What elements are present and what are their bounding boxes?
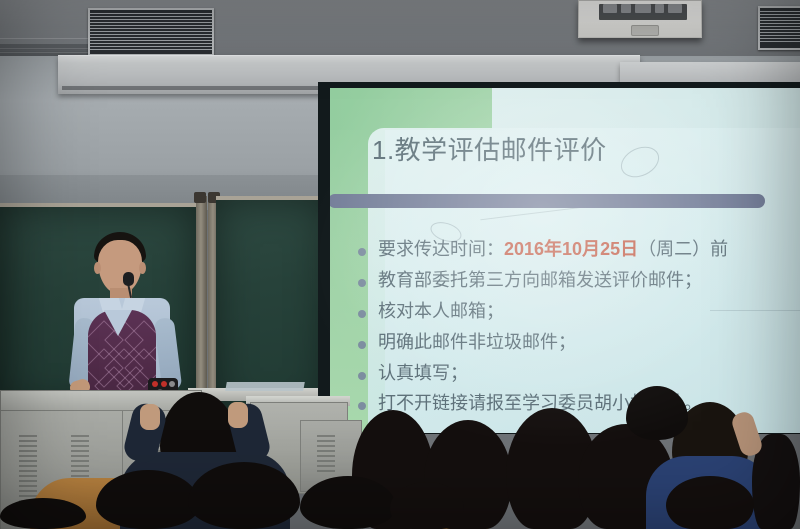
slide-bullet-item: 教育部委托第三方向邮箱发送评价邮件； — [356, 267, 796, 295]
projector-lens-icon — [631, 25, 659, 36]
slide-bullet-item: 认真填写； — [356, 360, 796, 388]
slide-bullet-item: 要求传达时间：2016年10月25日（周二）前 — [356, 236, 796, 264]
air-vent-icon — [88, 8, 214, 56]
bullet-dot-icon — [358, 402, 366, 410]
air-vent-icon — [758, 6, 800, 50]
bullet-text-suffix: （周二）前 — [638, 239, 728, 259]
slide-title: 1.教学评估邮件评价 — [372, 136, 772, 165]
bullet-dot-icon — [358, 279, 366, 287]
audience-head — [666, 476, 754, 529]
presenter-ear — [94, 262, 101, 274]
presenter-vneck — [104, 310, 132, 336]
bullet-dot-icon — [358, 310, 366, 318]
audience-head — [390, 482, 464, 529]
audience-hand — [140, 404, 160, 430]
cabinet-louvers — [317, 435, 335, 475]
presenter-ear — [139, 262, 146, 274]
slide-bullet-list: 要求传达时间：2016年10月25日（周二）前教育部委托第三方向邮箱发送评价邮件… — [356, 236, 796, 421]
bullet-text: 核对本人邮箱； — [378, 301, 504, 321]
slide-title-underline-bar — [330, 194, 765, 208]
slide-bullet-item: 明确此邮件非垃圾邮件； — [356, 329, 796, 357]
paper-on-tray — [225, 382, 305, 391]
classroom-scene: 1.教学评估邮件评价 要求传达时间：2016年10月25日（周二）前教育部委托第… — [0, 0, 800, 529]
chalkboard-rail — [196, 196, 207, 411]
bullet-dot-icon — [358, 248, 366, 256]
audience-head — [0, 498, 86, 529]
presenter-head — [98, 240, 142, 294]
microphone-icon — [123, 272, 134, 286]
audience-hand — [228, 402, 248, 428]
chalkboard-rail-cap — [194, 192, 206, 203]
projector — [578, 0, 702, 38]
bullet-text: 教育部委托第三方向邮箱发送评价邮件； — [378, 270, 702, 290]
slide-green-header-block — [330, 88, 492, 130]
bullet-text: 认真填写； — [378, 363, 468, 383]
bullet-dot-icon — [358, 341, 366, 349]
bullet-text: 要求传达时间： — [378, 239, 504, 259]
presenter — [60, 222, 190, 407]
slide-bullet-item: 核对本人邮箱； — [356, 298, 796, 326]
bullet-accent-date: 2016年10月25日 — [504, 239, 638, 259]
bullet-dot-icon — [358, 372, 366, 380]
presentation-slide: 1.教学评估邮件评价 要求传达时间：2016年10月25日（周二）前教育部委托第… — [330, 88, 800, 433]
bullet-text: 明确此邮件非垃圾邮件； — [378, 332, 576, 352]
